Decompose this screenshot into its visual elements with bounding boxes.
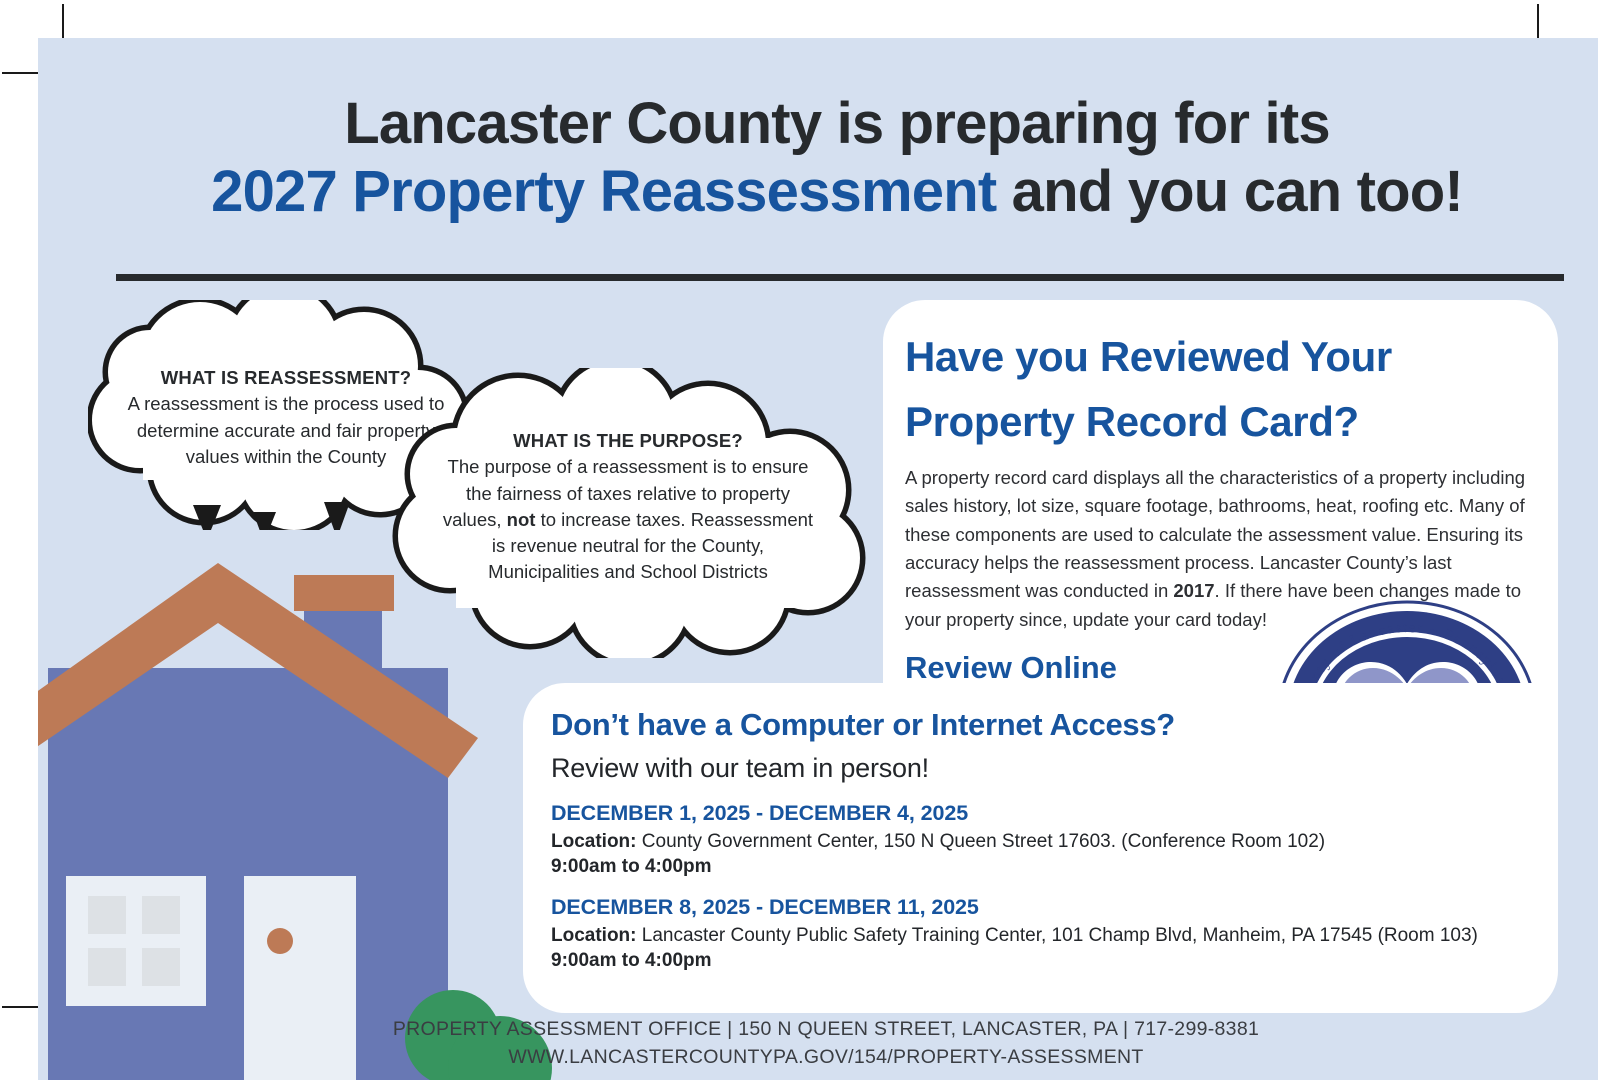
cloud-body-purpose: The purpose of a reassessment is to ensu… bbox=[438, 454, 818, 585]
event-session: DECEMBER 1, 2025 - DECEMBER 4, 2025 Loca… bbox=[551, 801, 1532, 878]
event-location-value: County Government Center, 150 N Queen St… bbox=[637, 831, 1326, 852]
record-card-heading: Have you Reviewed Your Property Record C… bbox=[905, 324, 1528, 454]
event-location: Location: Lancaster County Public Safety… bbox=[551, 925, 1532, 947]
record-card-heading-line1: Have you Reviewed Your bbox=[905, 324, 1528, 389]
headline-line-1: Lancaster County is preparing for its bbox=[76, 90, 1598, 158]
event-dates: DECEMBER 1, 2025 - DECEMBER 4, 2025 bbox=[551, 801, 1532, 826]
event-session: DECEMBER 8, 2025 - DECEMBER 11, 2025 Loc… bbox=[551, 895, 1532, 972]
event-location: Location: County Government Center, 150 … bbox=[551, 831, 1532, 853]
page-title: Lancaster County is preparing for its 20… bbox=[76, 90, 1598, 227]
headline-line-2: 2027 Property Reassessment and you can t… bbox=[76, 158, 1598, 226]
thought-cloud-purpose-text: WHAT IS THE PURPOSE? The purpose of a re… bbox=[438, 428, 818, 586]
event-time: 9:00am to 4:00pm bbox=[551, 856, 1532, 878]
cloud-body-purpose-part2: to increase taxes. Reassessment is reven… bbox=[488, 509, 813, 583]
headline-underline bbox=[116, 274, 1564, 281]
event-location-label: Location: bbox=[551, 925, 637, 946]
window-pane bbox=[88, 896, 126, 934]
in-person-review-panel: Don’t have a Computer or Internet Access… bbox=[523, 683, 1558, 1013]
doorknob bbox=[267, 928, 293, 954]
in-person-heading: Don’t have a Computer or Internet Access… bbox=[551, 707, 1532, 743]
event-time: 9:00am to 4:00pm bbox=[551, 950, 1532, 972]
record-card-heading-line2: Property Record Card? bbox=[905, 389, 1528, 454]
footer-office-line: PROPERTY ASSESSMENT OFFICE | 150 N QUEEN… bbox=[76, 1016, 1576, 1044]
page-background: Lancaster County is preparing for its 20… bbox=[38, 38, 1598, 1080]
event-location-label: Location: bbox=[551, 831, 637, 852]
event-dates: DECEMBER 8, 2025 - DECEMBER 11, 2025 bbox=[551, 895, 1532, 920]
cloud-body-purpose-emphasis: not bbox=[507, 509, 536, 530]
window bbox=[66, 876, 206, 1006]
window-pane bbox=[142, 896, 180, 934]
cloud-title-purpose: WHAT IS THE PURPOSE? bbox=[438, 428, 818, 454]
window-pane bbox=[88, 948, 126, 986]
in-person-subheading: Review with our team in person! bbox=[551, 753, 1532, 784]
headline-rest: and you can too! bbox=[996, 159, 1463, 224]
event-location-value: Lancaster County Public Safety Training … bbox=[637, 925, 1478, 946]
footer-website-line[interactable]: WWW.LANCASTERCOUNTYPA.GOV/154/PROPERTY-A… bbox=[76, 1044, 1576, 1072]
headline-accent: 2027 Property Reassessment bbox=[211, 159, 996, 224]
record-card-year: 2017 bbox=[1173, 580, 1214, 601]
window-pane bbox=[142, 948, 180, 986]
flyer-canvas: Lancaster County is preparing for its 20… bbox=[0, 0, 1598, 1080]
footer: PROPERTY ASSESSMENT OFFICE | 150 N QUEEN… bbox=[76, 1016, 1576, 1071]
